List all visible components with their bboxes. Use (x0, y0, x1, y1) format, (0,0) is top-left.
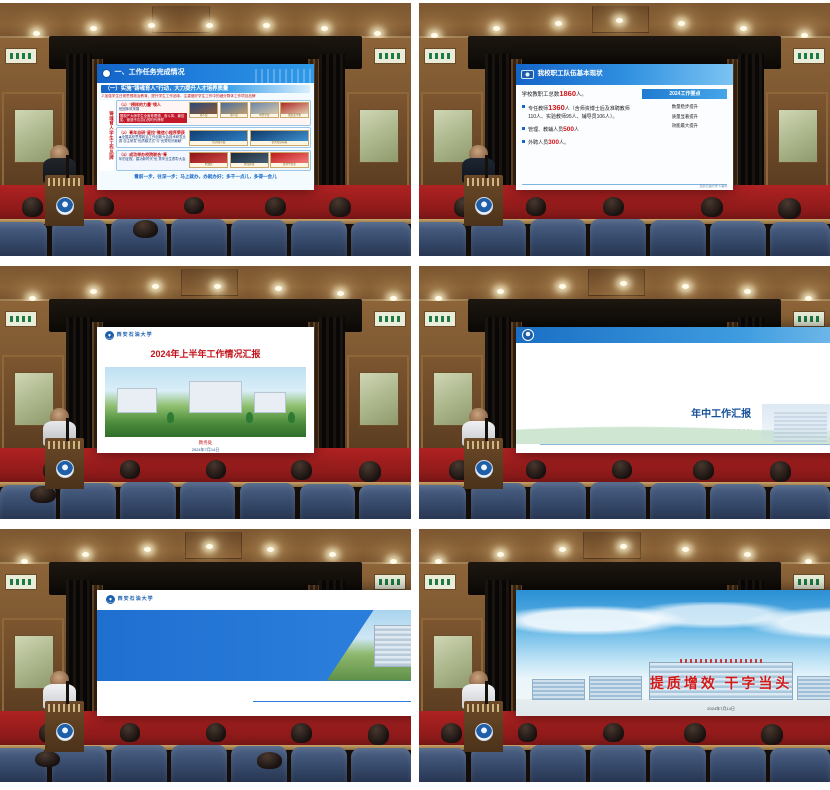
audience-head (206, 460, 227, 479)
podium-nameplate (48, 704, 81, 712)
podium (45, 701, 84, 752)
seat (770, 485, 830, 519)
staff-bullet: 专任教师1360人（含师资博士后及准聘教师110人、实验教师95人、辅导员106… (522, 103, 637, 121)
audience-head (603, 723, 624, 742)
photo-caption: 优秀毕业生 (271, 163, 308, 167)
projection-screen: 西安石油大学 研究生院、学科建设办公室、研究生工作部 2024年上半年工作汇报 … (97, 590, 411, 717)
seat (359, 485, 411, 519)
projection-screen: 我校职工队伍基本现状 学校教职工总数1860人。 专任教师1360人（含师资博士… (516, 64, 734, 191)
slide-vertical-tab: 铸魂育人学生工作品牌 (100, 100, 115, 171)
auditorium-scene: 我校职工队伍基本现状 学校教职工总数1860人。 专任教师1360人（含师资博士… (419, 3, 830, 256)
ceiling-light (497, 552, 504, 557)
slide-logo: 西安石油大学 (97, 327, 315, 340)
slide-footer: 看前一步，往深一步；马上就办，办就办好；多干一点儿，多得一会儿 (97, 173, 315, 182)
photo-panel-bottom-right: 提质增效 干字当头 2024年7月14日 (419, 529, 830, 782)
podium (45, 438, 84, 489)
slide-row: （2）青年自研"星拉"微信小程序荣获 ◆全国高校思想政治工作创新大会技术研发比赛… (116, 127, 311, 148)
priority-item: 效能最大提升 (642, 123, 727, 129)
ceiling-light (214, 284, 221, 289)
audience-head (701, 197, 722, 217)
audience-head (761, 724, 782, 744)
photo-caption: 中坚学生 (251, 114, 278, 118)
auditorium-scene: 西安石油大学 研究生院、学科建设办公室、研究生工作部 2024年上半年工作汇报 … (0, 529, 411, 782)
ceiling-panel (583, 532, 641, 560)
ceiling-light (497, 289, 504, 294)
projection-screen: 一、工作任务完成情况 （一）实施"铸魂育人"行动，大力提升人才培养质量 2.加强… (97, 64, 315, 191)
audience-head (94, 197, 114, 215)
total-staff-line: 学校教职工总数1860人。 (522, 89, 637, 99)
university-name: 西安石油大学 (117, 332, 153, 338)
photo-thumb: 优秀知识获取 (250, 130, 309, 146)
audience-head (184, 197, 204, 214)
photo-thumb: 交流座谈 (230, 152, 269, 168)
sky-clouds (516, 602, 830, 648)
ceiling-light (744, 552, 751, 557)
slide-header-title: 一、工作任务完成情况 (115, 69, 185, 78)
photo-caption: 国家奖学金 (281, 114, 308, 118)
exit-sign-icon (5, 48, 37, 64)
ceiling-light (682, 547, 689, 552)
exit-sign-icon (374, 48, 406, 64)
ceiling-light (206, 544, 213, 549)
podium-nameplate (48, 441, 81, 449)
ceiling-panel (588, 269, 646, 297)
seat (291, 221, 347, 256)
seat (0, 222, 47, 256)
bullet-number: 300 (548, 139, 559, 146)
ceiling-light (374, 31, 381, 36)
row-photos: 领人班 领人班 中坚学生 国家奖学金 (189, 102, 309, 123)
ceiling-light (559, 284, 566, 289)
slide-date: 2024年7月14日 (97, 447, 315, 452)
row-photos: 优秀展示面 优秀知识获取 (189, 130, 309, 146)
ceiling-light (682, 284, 689, 289)
slide-header: 我校职工队伍基本现状 (516, 64, 734, 86)
ceiling-light (559, 547, 566, 552)
ceiling-light (678, 21, 685, 26)
stage-curtain-right (738, 54, 765, 201)
seat (530, 219, 586, 256)
total-suffix: 人。 (576, 92, 587, 98)
audience-head (526, 460, 546, 478)
exit-sign-icon (424, 48, 456, 64)
seat (419, 748, 466, 782)
seat (171, 745, 227, 782)
microphone (485, 418, 488, 441)
ceiling-panel (185, 532, 243, 560)
photo-thumb: 领人班 (189, 102, 218, 118)
seat (351, 222, 411, 256)
total-prefix: 学校教职工总数 (522, 92, 560, 98)
bullet-number: 1360 (548, 103, 565, 112)
row-note: 展现产大师学生全面育理想、奋斗风、最佳奖、营造不忘初心的时代榜样 (119, 113, 187, 124)
photo-panel-top-right: 我校职工队伍基本现状 学校教职工总数1860人。 专任教师1360人（含师资博士… (419, 3, 830, 256)
slide-row: （1）"榜样的力量"领人 班团体风采展 展现产大师学生全面育理想、奋斗风、最佳奖… (116, 100, 311, 126)
slide-right-column: 2024工作要点 数量稳步提升 质量显著提升 效能最大提升 (642, 89, 727, 182)
photo-panel-middle-right: 年中工作汇报 科研处（科技成果转移转化中心） 2024年7月 西安石油大学 科研… (419, 266, 830, 519)
seat (590, 482, 646, 519)
exit-sign-icon (793, 311, 825, 327)
audience-head (359, 461, 380, 481)
photo-caption: 启迪式 (190, 163, 227, 167)
seat (530, 482, 586, 519)
audience-head (257, 752, 283, 769)
audience-head (265, 197, 286, 216)
ceiling-light (144, 547, 151, 552)
seat (240, 483, 296, 519)
department-name: 教务处 (199, 440, 213, 445)
slide-body: 学校教职工总数1860人。 专任教师1360人（含师资博士后及准聘教师110人、… (516, 85, 734, 184)
seat (171, 219, 227, 256)
exit-sign-icon (424, 311, 456, 327)
photo-thumb: 优秀毕业生 (270, 152, 309, 168)
ceiling-light (493, 26, 500, 31)
slide-topbar (516, 327, 830, 343)
auditorium-scene: 提质增效 干字当头 2024年7月14日 (419, 529, 830, 782)
slide-title: 2024年上半年工作情况汇报 (97, 349, 315, 360)
audience-head (120, 723, 140, 741)
university-emblem-icon (475, 460, 493, 478)
seat (710, 221, 766, 256)
slide-footer: 教务处 2024年7月14日 (97, 437, 315, 453)
auditorium-scene: 年中工作汇报 科研处（科技成果转移转化中心） 2024年7月 西安石油大学 科研… (419, 266, 830, 519)
podium-nameplate (467, 441, 500, 449)
slide-date: 2024年7月14日 (516, 706, 830, 711)
campus-photo (105, 367, 307, 437)
podium-nameplate (48, 178, 81, 186)
row-caption: （2）青年自研"星拉"微信小程序荣获 ◆全国高校思想政治工作创新大会技术研发比赛… (119, 130, 187, 146)
audience-head (22, 197, 43, 217)
campus-building (254, 392, 286, 413)
auditorium-scene: 西安石油大学 2024年上半年工作情况汇报 教务处 2024年7月14日 (0, 266, 411, 519)
stage-curtain-right (319, 54, 346, 201)
audience-head (206, 723, 227, 742)
campus-tree (167, 412, 174, 423)
skyline-graphic (255, 69, 312, 83)
university-emblem-icon (475, 197, 493, 215)
photo-thumb: 中坚学生 (250, 102, 279, 118)
slide-logo: 西安石油大学 (97, 590, 411, 604)
ceiling-light (267, 547, 274, 552)
podium-nameplate (467, 178, 500, 186)
row-note: 秀毕业生表彰大会 (158, 157, 185, 161)
podium (464, 175, 503, 226)
audience-head (693, 460, 714, 480)
audience-head (518, 723, 538, 741)
seat (710, 484, 766, 519)
seat (650, 220, 706, 256)
exit-sign-icon (374, 311, 406, 327)
seat (530, 745, 586, 782)
photo-caption: 领人班 (221, 114, 248, 118)
photo-caption: 优秀展示面 (190, 141, 247, 145)
seat (419, 222, 466, 256)
campus-tree (246, 412, 253, 423)
audience-head (35, 751, 61, 768)
photo-caption: 领人班 (190, 114, 217, 118)
exit-sign-icon (5, 311, 37, 327)
university-emblem-icon (56, 460, 74, 478)
seat (291, 747, 347, 782)
audience-head (770, 461, 791, 481)
slide-row: （3）成功举办校院联合"青 年的征程，建功新时代"优 秀毕业生表彰大会 启迪式 … (116, 150, 311, 171)
ceiling-light (206, 23, 213, 28)
stage-curtain-right (319, 317, 346, 464)
slide-bottom-note: 西安石油大学 人事处 (522, 184, 728, 189)
audience-head (291, 723, 312, 743)
microphone (485, 155, 488, 178)
audience-head (778, 198, 800, 218)
seat (419, 485, 466, 519)
ceiling-light (740, 26, 747, 31)
seat (590, 745, 646, 782)
seat (120, 482, 176, 519)
audience-head (684, 723, 705, 743)
exit-sign-icon (793, 574, 825, 590)
campus-building (189, 381, 241, 413)
seat (351, 748, 411, 782)
row-subtitle: 班团体风采展 (119, 107, 139, 111)
slide-subheader: （一）实施"铸魂育人"行动，大力提升人才培养质量 (101, 85, 311, 94)
seat (650, 483, 706, 519)
ceiling-panel (181, 269, 239, 297)
bullet-text: 外聘人员300人。 (528, 138, 569, 147)
audience-head (612, 460, 633, 479)
audience-head (526, 197, 546, 215)
photo-thumb: 优秀展示面 (189, 130, 248, 146)
audience-head (329, 197, 350, 217)
audience-head (603, 197, 624, 216)
audience-head (133, 220, 159, 238)
auditorium-scene: 一、工作任务完成情况 （一）实施"铸魂育人"行动，大力提升人才培养质量 2.加强… (0, 3, 411, 256)
hall-door (347, 92, 409, 189)
slide-accent-rule (253, 701, 411, 703)
ceiling-panel (152, 6, 210, 34)
exit-sign-icon (793, 48, 825, 64)
exit-sign-icon (424, 574, 456, 590)
audience-head (120, 460, 140, 478)
seat (180, 482, 236, 519)
bullet-number: 500 (563, 126, 574, 133)
university-logo-icon (521, 70, 534, 79)
podium (464, 438, 503, 489)
university-name: 西安石油大学 (118, 596, 154, 602)
bullet-text: 管理、教辅人员500人 (528, 125, 579, 134)
seat (300, 484, 356, 519)
hall-door (766, 92, 828, 189)
ceiling-light (33, 31, 40, 36)
projection-screen: 西安石油大学 2024年上半年工作情况汇报 教务处 2024年7月14日 (97, 327, 315, 454)
photo-caption: 交流座谈 (231, 163, 268, 167)
microphone (485, 681, 488, 704)
row-note-2: 自主研发"优质模式式"与"优秀知识献献" (123, 139, 182, 143)
ceiling-light (82, 552, 89, 557)
photo-panel-bottom-left: 西安石油大学 研究生院、学科建设办公室、研究生工作部 2024年上半年工作汇报 … (0, 529, 411, 782)
slide-title-band: 研究生院、学科建设办公室、研究生工作部 2024年上半年工作汇报 2024年7月 (97, 610, 411, 681)
priority-panel-title: 2024工作要点 (642, 89, 727, 99)
slide-title: 研究生院、学科建设办公室、研究生工作部 2024年上半年工作汇报 (97, 610, 411, 681)
row-caption: （1）"榜样的力量"领人 班团体风采展 展现产大师学生全面育理想、奋斗风、最佳奖… (119, 102, 187, 123)
slide-red-note: 2.加强学生日常思想政治教育，提升学生工作品味，注重做好学生工作中的细分群体工作… (97, 94, 315, 98)
podium-nameplate (467, 704, 500, 712)
ceiling-light (744, 289, 751, 294)
slide-left-column: 学校教职工总数1860人。 专任教师1360人（含师资博士后及准聘教师110人、… (522, 89, 637, 182)
photo-collage: 一、工作任务完成情况 （一）实施"铸魂育人"行动，大力提升人才培养质量 2.加强… (0, 0, 830, 790)
photo-panel-middle-left: 西安石油大学 2024年上半年工作情况汇报 教务处 2024年7月14日 (0, 266, 411, 519)
slide-rows: （1）"榜样的力量"领人 班团体风采展 展现产大师学生全面育理想、奋斗风、最佳奖… (116, 100, 311, 171)
slide-header-title: 我校职工队伍基本现状 (538, 70, 603, 78)
photo-thumb: 启迪式 (189, 152, 228, 168)
audience-head (291, 460, 312, 480)
microphone (66, 418, 69, 441)
seat (650, 746, 706, 782)
priority-item: 数量稳步提升 (642, 104, 727, 110)
slide-body: 铸魂育人学生工作品牌 （1）"榜样的力量"领人 班团体风采展 展现产大师学生全面… (97, 100, 315, 173)
audience-head (368, 724, 389, 744)
ceiling-light (329, 552, 336, 557)
photo-thumb: 国家奖学金 (280, 102, 309, 118)
ceiling-light (321, 26, 328, 31)
seat (111, 745, 167, 782)
university-logo-icon (522, 329, 534, 341)
priority-item: 质量显著提升 (642, 114, 727, 120)
university-emblem-icon (56, 197, 74, 215)
staff-bullet: 外聘人员300人。 (522, 138, 637, 147)
podium (464, 701, 503, 752)
campus-illustration (762, 404, 830, 442)
slide-slogan: 提质增效 干字当头 (516, 676, 830, 694)
exit-sign-icon (5, 574, 37, 590)
row-subtitle: 年的征程，建功新时代"优 (119, 157, 158, 161)
microphone (66, 681, 69, 704)
photo-panel-top-left: 一、工作任务完成情况 （一）实施"铸魂育人"行动，大力提升人才培养质量 2.加强… (0, 3, 411, 256)
seat (590, 219, 646, 256)
university-emblem-icon (105, 331, 114, 340)
university-emblem-icon (475, 723, 493, 741)
campus-tree (288, 412, 295, 423)
bullet-text: 专任教师1360人（含师资博士后及准聘教师110人、实验教师95人、辅导员106… (528, 103, 636, 121)
seat (770, 748, 830, 782)
ceiling-light (152, 284, 159, 289)
hall-door (347, 355, 409, 452)
staff-bullet: 管理、教辅人员500人 (522, 125, 637, 134)
photo-caption: 优秀知识获取 (251, 141, 308, 145)
total-number: 1860 (559, 89, 576, 98)
microphone (66, 155, 69, 178)
projection-screen: 年中工作汇报 科研处（科技成果转移转化中心） 2024年7月 西安石油大学 科研… (516, 327, 830, 454)
university-emblem-icon (106, 595, 115, 604)
photo-thumb: 领人班 (220, 102, 249, 118)
exit-sign-icon (374, 574, 406, 590)
seat (231, 220, 287, 256)
slide-bottom-note: 西安石油大学 科研处 (540, 444, 830, 449)
slide-header: 一、工作任务完成情况 (97, 64, 315, 83)
campus-building (117, 388, 157, 413)
university-emblem-icon (56, 723, 74, 741)
row-caption: （3）成功举办校院联合"青 年的征程，建功新时代"优 秀毕业生表彰大会 (119, 152, 187, 168)
audience-head (441, 723, 462, 743)
podium (45, 175, 84, 226)
ceiling-light (555, 21, 562, 26)
row-photos: 启迪式 交流座谈 优秀毕业生 (189, 152, 309, 168)
seat (770, 222, 830, 256)
projection-screen: 提质增效 干字当头 2024年7月14日 (516, 590, 830, 717)
seat (710, 747, 766, 782)
slide-badge-icon (102, 69, 111, 78)
